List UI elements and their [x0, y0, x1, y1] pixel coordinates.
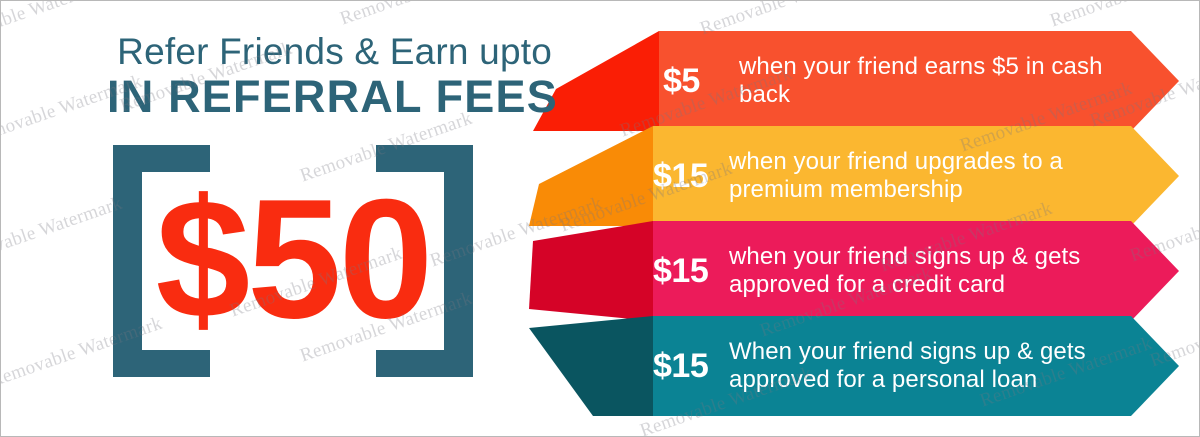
reward-banner-3[interactable]: $15 when your friend signs up & gets app…: [511, 221, 1200, 321]
banner-4-text: When your friend signs up & gets approve…: [729, 338, 1131, 394]
total-amount-block: $50: [113, 145, 473, 377]
banner-1-content: $5 when your friend earns $5 in cash bac…: [663, 31, 1131, 131]
bracket-close-icon: [376, 145, 473, 377]
reward-banner-2[interactable]: $15 when your friend upgrades to a premi…: [511, 126, 1200, 226]
banner-1-text: when your friend earns $5 in cash back: [739, 53, 1131, 109]
banner-4-amount: $15: [653, 349, 711, 383]
banner-3-text: when your friend signs up & gets approve…: [729, 243, 1131, 299]
infographic-canvas: Refer Friends & Earn upto IN REFERRAL FE…: [0, 0, 1200, 437]
left-headline-panel: Refer Friends & Earn upto IN REFERRAL FE…: [1, 1, 561, 436]
banner-2-amount: $15: [653, 159, 711, 193]
banner-1-amount: $5: [663, 64, 721, 98]
banner-2-text: when your friend upgrades to a premium m…: [729, 148, 1131, 204]
headline-line-2: IN REFERRAL FEES: [107, 73, 552, 120]
banner-2-content: $15 when your friend upgrades to a premi…: [653, 126, 1131, 226]
banner-3-amount: $15: [653, 254, 711, 288]
headline: Refer Friends & Earn upto IN REFERRAL FE…: [107, 32, 552, 120]
reward-banner-4[interactable]: $15 When your friend signs up & gets app…: [511, 316, 1200, 416]
banner-4-content: $15 When your friend signs up & gets app…: [653, 316, 1131, 416]
headline-line-1: Refer Friends & Earn upto: [107, 32, 552, 72]
banner-3-content: $15 when your friend signs up & gets app…: [653, 221, 1131, 321]
reward-banner-1[interactable]: $5 when your friend earns $5 in cash bac…: [511, 31, 1200, 131]
